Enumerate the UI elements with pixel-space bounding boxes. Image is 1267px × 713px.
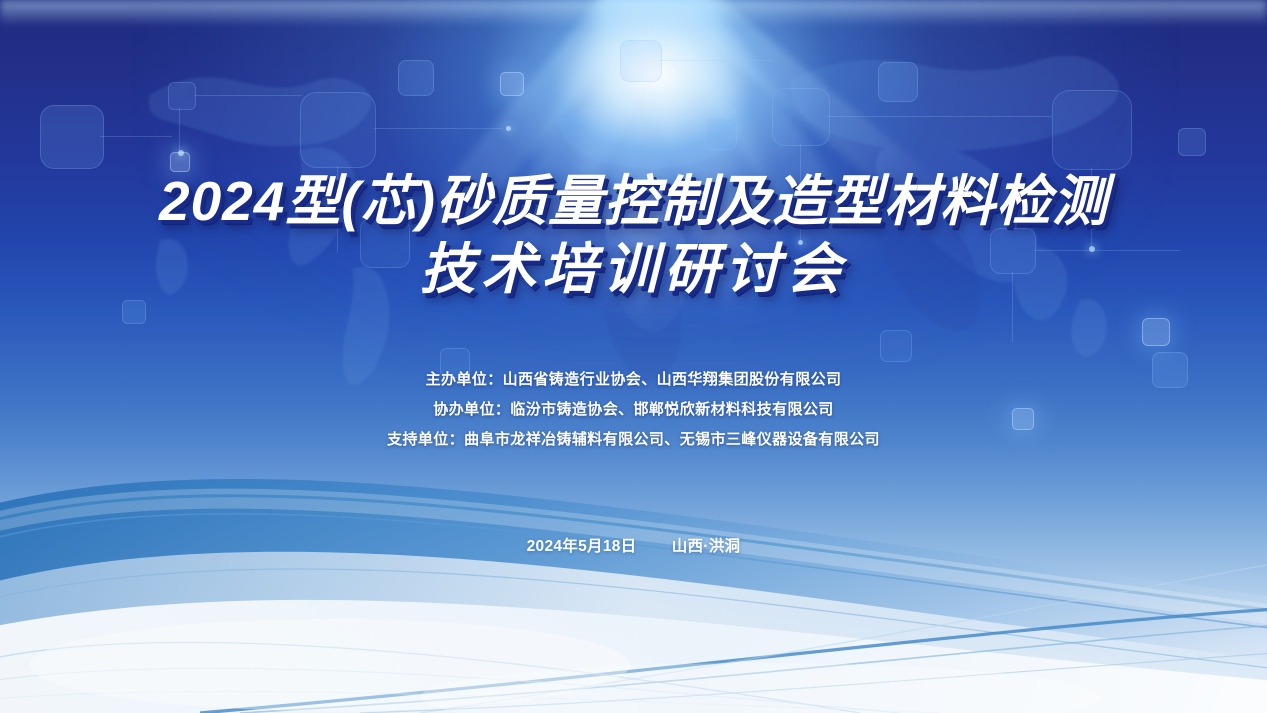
banner-content: 2024型(芯)砂质量控制及造型材料检测 技术培训研讨会 主办单位：山西省铸造行… — [0, 0, 1267, 713]
organizer-line-coorganizer: 协办单位：临汾市铸造协会、邯郸悦欣新材料科技有限公司 — [387, 395, 880, 425]
event-date: 2024年5月18日 — [527, 538, 637, 555]
title-block: 2024型(芯)砂质量控制及造型材料检测 技术培训研讨会 — [159, 172, 1108, 299]
main-title-line-1: 2024型(芯)砂质量控制及造型材料检测 — [159, 172, 1108, 230]
organizer-block: 主办单位：山西省铸造行业协会、山西华翔集团股份有限公司 协办单位：临汾市铸造协会… — [387, 365, 880, 455]
organizer-line-host: 主办单位：山西省铸造行业协会、山西华翔集团股份有限公司 — [387, 365, 880, 395]
main-title-line-2: 技术培训研讨会 — [159, 240, 1108, 298]
event-meta-row: 2024年5月18日 山西·洪洞 — [527, 534, 741, 556]
event-meta-block: 2024年5月18日 山西·洪洞 — [527, 534, 741, 556]
event-location: 山西·洪洞 — [672, 538, 741, 555]
organizer-line-supporter: 支持单位：曲阜市龙祥冶铸辅料有限公司、无锡市三峰仪器设备有限公司 — [387, 425, 880, 455]
conference-banner: 2024型(芯)砂质量控制及造型材料检测 技术培训研讨会 主办单位：山西省铸造行… — [0, 0, 1267, 713]
